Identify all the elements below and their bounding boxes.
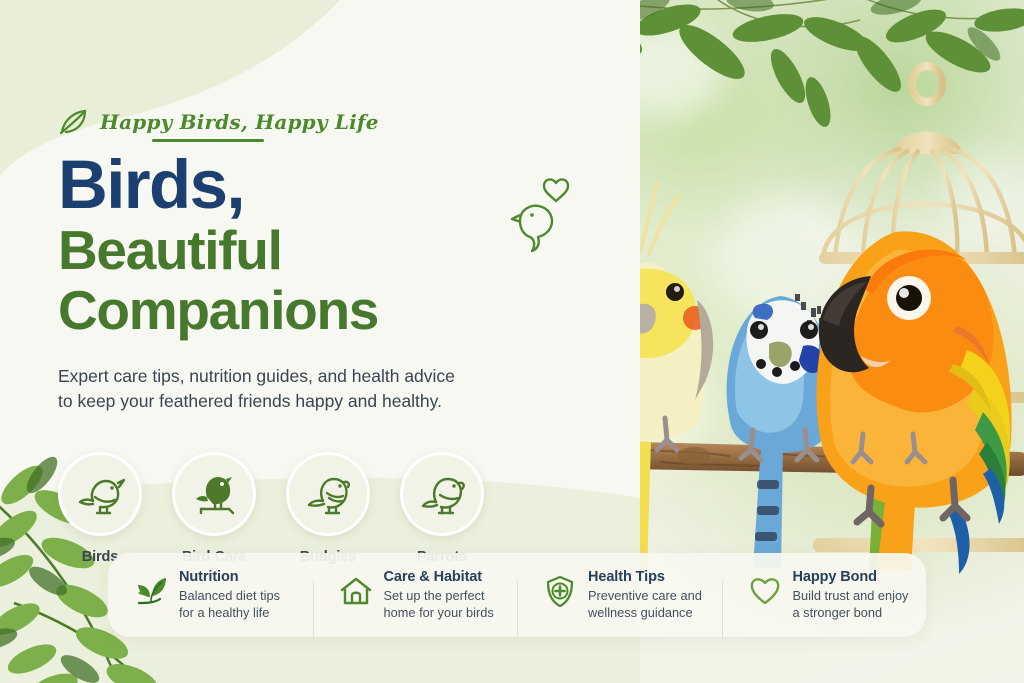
feature-care-habitat[interactable]: Care & Habitat Set up the perfect home f… — [313, 569, 518, 621]
headline: Birds, Beautiful Companions — [58, 150, 578, 340]
chip-circle[interactable] — [286, 452, 370, 536]
category-chip-birds[interactable]: Birds — [58, 452, 142, 565]
bird-hero-banner: Happy Birds, Happy Life Birds, Beautiful… — [0, 0, 1024, 683]
eyebrow: Happy Birds, Happy Life — [58, 108, 578, 136]
feature-text: Health Tips Preventive care and wellness… — [588, 569, 702, 621]
headline-line-2: Beautiful Companions — [58, 220, 578, 340]
leaf-sprout-icon — [134, 574, 168, 608]
category-chip-list: Birds Bird Car — [58, 452, 578, 565]
feature-text: Nutrition Balanced diet tips for a healt… — [179, 569, 280, 621]
bird-perched-icon — [75, 471, 125, 517]
heart-icon — [748, 574, 782, 608]
bird-on-stand-icon — [189, 471, 239, 517]
feature-text: Care & Habitat Set up the perfect home f… — [384, 569, 494, 621]
chip-circle[interactable] — [58, 452, 142, 536]
bird-with-heart-icon — [506, 175, 578, 253]
category-chip-parrots[interactable]: Parrots — [400, 452, 484, 565]
shield-plus-icon — [543, 574, 577, 608]
feature-desc-line-1: Set up the perfect — [384, 588, 494, 605]
leaf-icon — [58, 108, 88, 136]
feature-title: Nutrition — [179, 569, 280, 585]
eyebrow-text-wrap: Happy Birds, Happy Life — [100, 110, 379, 134]
feature-title: Health Tips — [588, 569, 702, 585]
feature-desc-line-2: home for your birds — [384, 605, 494, 622]
eyebrow-underline — [152, 139, 264, 142]
feature-text: Happy Bond Build trust and enjoy a stron… — [793, 569, 909, 621]
feature-happy-bond[interactable]: Happy Bond Build trust and enjoy a stron… — [722, 569, 927, 621]
chip-circle[interactable] — [172, 452, 256, 536]
subtitle-line-2: to keep your feathered friends happy and… — [58, 389, 488, 414]
feature-title: Happy Bond — [793, 569, 909, 585]
feature-desc-line-2: for a healthy life — [179, 605, 280, 622]
feature-desc-line-2: wellness guidance — [588, 605, 702, 622]
home-icon — [339, 574, 373, 608]
category-chip-bird-care[interactable]: Bird Care — [172, 452, 256, 565]
sun-conure-parrot — [817, 231, 1012, 574]
category-chip-budgies[interactable]: Budgies — [286, 452, 370, 565]
blue-budgie — [727, 294, 834, 568]
feature-health-tips[interactable]: Health Tips Preventive care and wellness… — [517, 569, 722, 621]
feature-desc-line-1: Build trust and enjoy — [793, 588, 909, 605]
hero-content: Happy Birds, Happy Life Birds, Beautiful… — [58, 108, 578, 565]
subtitle-line-1: Expert care tips, nutrition guides, and … — [58, 364, 488, 389]
feature-title: Care & Habitat — [384, 569, 494, 585]
feature-nutrition[interactable]: Nutrition Balanced diet tips for a healt… — [108, 569, 313, 621]
eyebrow-label: Happy Birds, Happy Life — [100, 110, 379, 134]
budgie-icon — [303, 471, 353, 517]
headline-line-1: Birds, — [58, 150, 578, 220]
feature-desc-line-1: Balanced diet tips — [179, 588, 280, 605]
feature-desc-line-1: Preventive care and — [588, 588, 702, 605]
parrot-icon — [417, 471, 467, 517]
feature-desc-line-2: a stronger bond — [793, 605, 909, 622]
chip-circle[interactable] — [400, 452, 484, 536]
feature-bar: Nutrition Balanced diet tips for a healt… — [108, 553, 926, 637]
subtitle: Expert care tips, nutrition guides, and … — [58, 364, 488, 414]
